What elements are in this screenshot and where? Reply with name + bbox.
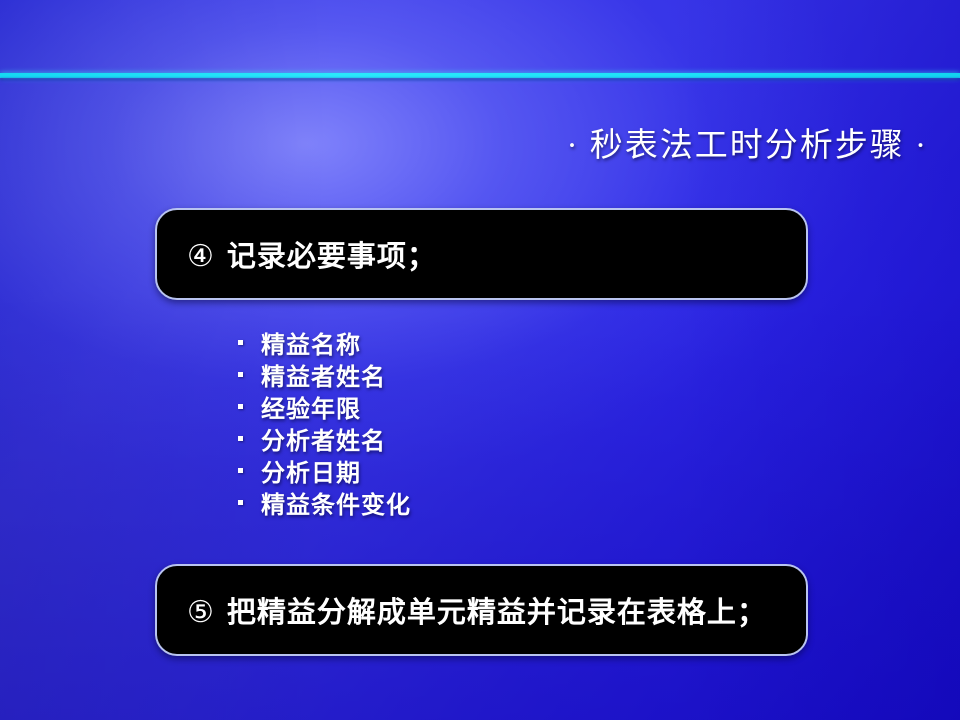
- bullet-dot-icon: [238, 340, 243, 345]
- list-item-label: 经验年限: [261, 389, 361, 424]
- step-box-5-text: ⑤把精益分解成单元精益并记录在表格上；: [157, 589, 767, 631]
- list-item: 精益者姓名: [238, 358, 411, 390]
- step-label-5: 把精益分解成单元精益并记录在表格上；: [227, 597, 767, 629]
- step-label-4: 记录必要事项；: [227, 241, 437, 273]
- presentation-slide: · 秒表法工时分析步骤 · ④记录必要事项； 精益名称 精益者姓名 经验年限 分…: [0, 0, 960, 720]
- list-item: 分析者姓名: [238, 422, 411, 454]
- list-item: 精益名称: [238, 326, 411, 358]
- step-box-4-text: ④记录必要事项；: [157, 233, 437, 275]
- list-item-label: 精益条件变化: [261, 485, 411, 520]
- bullet-dot-icon: [238, 372, 243, 377]
- step-number-4: ④: [187, 240, 215, 273]
- bullet-dot-icon: [238, 468, 243, 473]
- bullet-dot-icon: [238, 404, 243, 409]
- list-item-label: 精益名称: [261, 325, 361, 360]
- step-box-4: ④记录必要事项；: [155, 208, 808, 300]
- list-item: 分析日期: [238, 454, 411, 486]
- bullet-dot-icon: [238, 500, 243, 505]
- step-box-5: ⑤把精益分解成单元精益并记录在表格上；: [155, 564, 808, 656]
- page-title: · 秒表法工时分析步骤 ·: [567, 118, 928, 166]
- list-item: 经验年限: [238, 390, 411, 422]
- list-item-label: 精益者姓名: [261, 357, 386, 392]
- list-item-label: 分析者姓名: [261, 421, 386, 456]
- step-number-5: ⑤: [187, 596, 215, 629]
- list-item-label: 分析日期: [261, 453, 361, 488]
- requirements-list: 精益名称 精益者姓名 经验年限 分析者姓名 分析日期 精益条件变化: [238, 326, 411, 518]
- header-accent-rule-shadow: [0, 78, 960, 81]
- list-item: 精益条件变化: [238, 486, 411, 518]
- bullet-dot-icon: [238, 436, 243, 441]
